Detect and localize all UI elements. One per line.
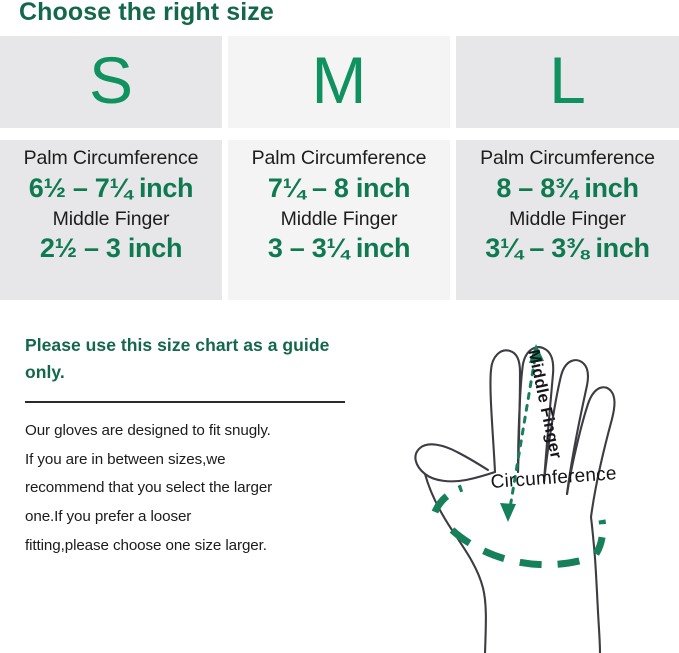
middle-finger-value: 3 – 3¼ inch: [228, 232, 450, 265]
palm-circumference-value: 8 – 8¾ inch: [456, 172, 679, 205]
pinky-finger-outline: [567, 387, 615, 517]
size-measurements-large: Palm Circumference 8 – 8¾ inch Middle Fi…: [456, 140, 679, 300]
notes-heading: Please use this size chart as a guide on…: [25, 332, 365, 385]
size-letter-box-small: S: [0, 36, 222, 128]
size-column-large: L Palm Circumference 8 – 8¾ inch Middle …: [456, 36, 679, 300]
middle-finger-value: 3¼ – 3⅜ inch: [456, 232, 679, 265]
middle-finger-label: Middle Finger: [456, 207, 679, 233]
size-letter-box-large: L: [456, 36, 679, 128]
size-grid: S Palm Circumference 6½ – 7¼ inch Middle…: [0, 36, 679, 300]
notes-body: Our gloves are designed to fit snugly. I…: [25, 417, 365, 560]
notes-line: Our gloves are designed to fit snugly.: [25, 417, 365, 446]
notes-divider: [25, 401, 345, 403]
hand-measurement-diagram: Middle Finger Circumference: [390, 312, 679, 653]
size-letter-large: L: [549, 47, 586, 113]
middle-finger-label: Middle Finger: [0, 207, 222, 233]
palm-circumference-label: Palm Circumference: [0, 146, 222, 172]
size-measurements-medium: Palm Circumference 7¼ – 8 inch Middle Fi…: [228, 140, 450, 300]
palm-circumference-value: 7¼ – 8 inch: [228, 172, 450, 205]
index-finger-outline: [490, 350, 520, 472]
size-column-small: S Palm Circumference 6½ – 7¼ inch Middle…: [0, 36, 222, 300]
thumb-outline: [415, 444, 495, 481]
palm-circumference-label: Palm Circumference: [228, 146, 450, 172]
notes-line: If you are in between sizes,we: [25, 446, 365, 475]
size-guide-notes: Please use this size chart as a guide on…: [25, 332, 365, 560]
palm-circumference-label: Palm Circumference: [456, 146, 679, 172]
palm-circumference-value: 6½ – 7¼ inch: [0, 172, 222, 205]
size-measurements-small: Palm Circumference 6½ – 7¼ inch Middle F…: [0, 140, 222, 300]
notes-line: recommend that you select the larger: [25, 474, 365, 503]
page-title: Choose the right size: [19, 0, 274, 27]
notes-line: fitting,please choose one size larger.: [25, 532, 365, 561]
size-column-medium: M Palm Circumference 7¼ – 8 inch Middle …: [228, 36, 450, 300]
middle-finger-value: 2½ – 3 inch: [0, 232, 222, 265]
size-letter-box-medium: M: [228, 36, 450, 128]
circumference-dashed-band: [435, 488, 603, 565]
size-chart-page: Choose the right size S Palm Circumferen…: [0, 0, 679, 653]
size-letter-small: S: [89, 47, 133, 113]
notes-line: one.If you prefer a looser: [25, 503, 365, 532]
palm-left-edge: [425, 474, 486, 653]
middle-finger-arrow-down: [500, 503, 516, 522]
size-letter-medium: M: [312, 47, 367, 113]
middle-finger-label: Middle Finger: [228, 207, 450, 233]
